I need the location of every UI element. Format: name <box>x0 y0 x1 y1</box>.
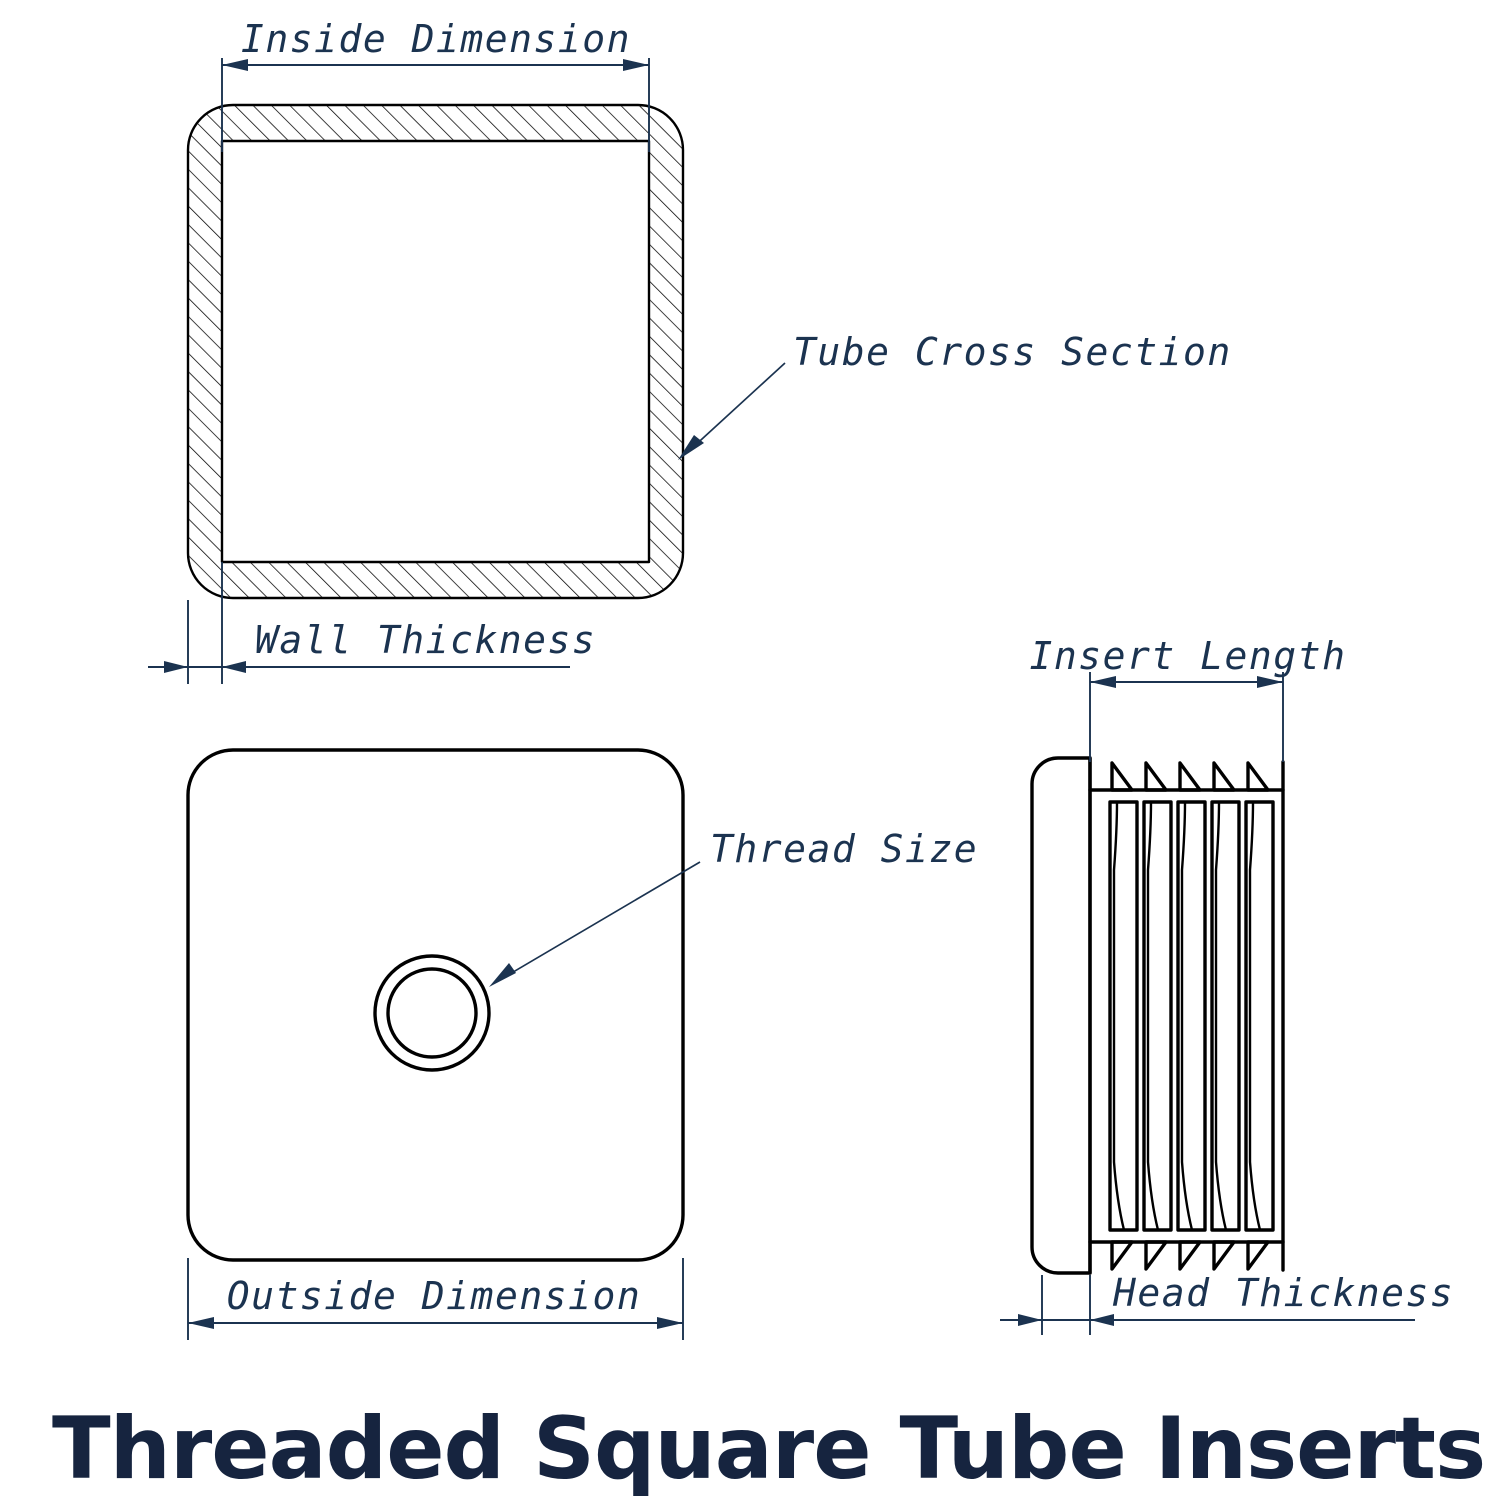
thread-hole-inner-circle <box>388 969 476 1057</box>
rib-barb-bottom <box>1146 1242 1166 1269</box>
tube-outer-outline <box>188 105 683 598</box>
head-thickness-arrow-left <box>1018 1314 1042 1326</box>
drawing-canvas: Inside Dimension Tube Cross Section Wall… <box>0 0 1500 1500</box>
rib-inner-curve <box>1182 802 1192 1230</box>
rib-inner-curve <box>1148 802 1158 1230</box>
insert-length-label: Insert Length <box>1030 634 1347 678</box>
tube-cross-section-label: Tube Cross Section <box>793 330 1232 374</box>
tube-cross-section-leader-line <box>690 363 785 450</box>
insert-length-annotation: Insert Length <box>1030 634 1347 762</box>
rib-barb-top <box>1248 763 1268 790</box>
rib-barb-top <box>1180 763 1200 790</box>
tube-cross-section-view <box>180 98 692 606</box>
rib-barb-bottom <box>1112 1242 1132 1269</box>
insert-rib <box>1212 763 1239 1269</box>
tube-cross-section-leader-annotation: Tube Cross Section <box>678 330 1232 460</box>
wall-thickness-label: Wall Thickness <box>255 618 596 662</box>
wall-thickness-arrow-left <box>164 661 188 673</box>
insert-front-view <box>188 750 683 1260</box>
rib-barb-top <box>1214 763 1234 790</box>
insert-rib <box>1144 763 1171 1269</box>
head-thickness-arrow-right <box>1090 1314 1114 1326</box>
outside-dimension-annotation: Outside Dimension <box>188 1258 683 1340</box>
outside-dimension-arrow-left <box>188 1317 214 1329</box>
insert-rib <box>1246 763 1273 1269</box>
rib-barb-top <box>1146 763 1166 790</box>
insert-face-outline <box>188 750 683 1260</box>
insert-side-view <box>1032 758 1283 1273</box>
thread-size-leader-line <box>503 862 700 978</box>
rib-barb-top <box>1112 763 1132 790</box>
insert-rib <box>1110 763 1137 1269</box>
wall-thickness-arrow-right <box>222 661 246 673</box>
tube-inner-opening <box>222 141 649 562</box>
page-title: Threaded Square Tube Inserts <box>52 1399 1485 1499</box>
technical-drawing-svg: Inside Dimension Tube Cross Section Wall… <box>0 0 1500 1500</box>
rib-inner-curve <box>1216 802 1226 1230</box>
rib-barb-bottom <box>1248 1242 1268 1269</box>
insert-head-flange <box>1032 758 1090 1273</box>
thread-size-leader-annotation: Thread Size <box>489 827 978 987</box>
thread-size-arrow <box>489 963 516 987</box>
thread-hole-outer-circle <box>375 956 489 1070</box>
insert-rib <box>1178 763 1205 1269</box>
tube-wall-hatch <box>180 98 692 606</box>
outside-dimension-label: Outside Dimension <box>227 1274 641 1318</box>
head-thickness-label: Head Thickness <box>1112 1271 1454 1315</box>
head-thickness-annotation: Head Thickness <box>1000 1271 1454 1335</box>
rib-inner-curve <box>1250 802 1260 1230</box>
rib-barb-bottom <box>1214 1242 1234 1269</box>
rib-inner-curve <box>1114 802 1124 1230</box>
inside-dimension-label: Inside Dimension <box>241 17 631 61</box>
rib-barb-bottom <box>1180 1242 1200 1269</box>
outside-dimension-arrow-right <box>657 1317 683 1329</box>
thread-size-label: Thread Size <box>710 827 978 871</box>
